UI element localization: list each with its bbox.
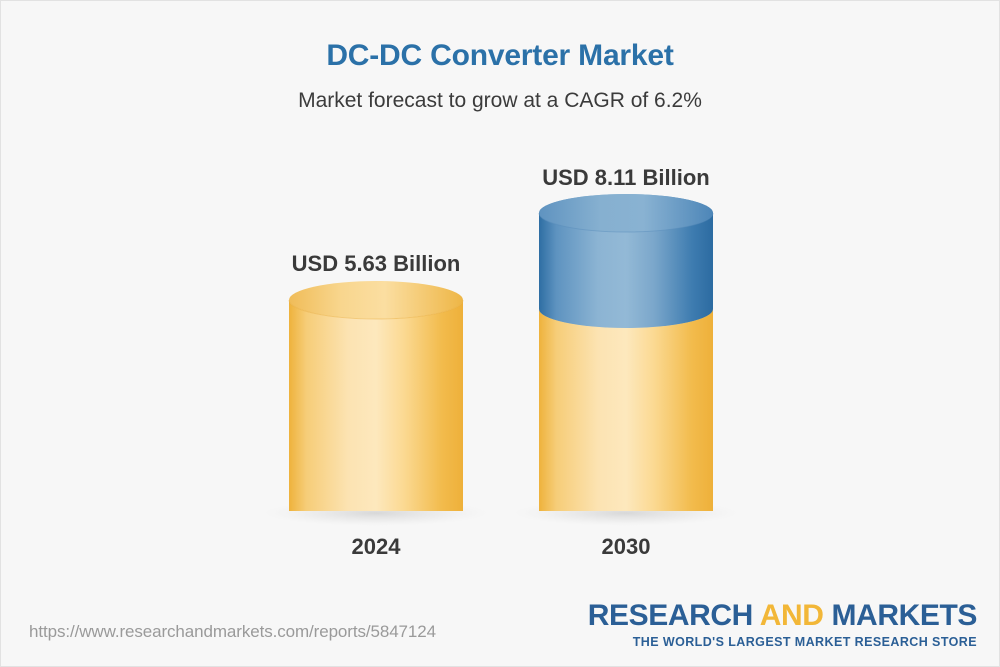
brand-word-and: AND	[760, 599, 824, 632]
bar-2024-body	[289, 300, 463, 511]
bar-2030[interactable]	[539, 194, 713, 511]
brand-tagline: THE WORLD'S LARGEST MARKET RESEARCH STOR…	[588, 636, 977, 649]
bar-2030-base-body	[539, 309, 713, 511]
brand-word-markets: MARKETS	[824, 599, 977, 632]
brand-logo[interactable]: RESEARCH AND MARKETS THE WORLD'S LARGEST…	[588, 601, 977, 649]
bar-chart-plot	[1, 1, 1000, 667]
brand-word-research: RESEARCH	[588, 599, 760, 632]
chart-canvas: DC-DC Converter Market Market forecast t…	[0, 0, 1000, 667]
bar-value-label-2030: USD 8.11 Billion	[539, 165, 713, 191]
source-url[interactable]: https://www.researchandmarkets.com/repor…	[29, 622, 436, 642]
brand-wordmark: RESEARCH AND MARKETS	[588, 601, 977, 631]
category-label-2030: 2030	[539, 534, 713, 560]
bar-2024[interactable]	[289, 281, 463, 511]
bar-value-label-2024: USD 5.63 Billion	[289, 251, 463, 277]
category-label-2024: 2024	[289, 534, 463, 560]
